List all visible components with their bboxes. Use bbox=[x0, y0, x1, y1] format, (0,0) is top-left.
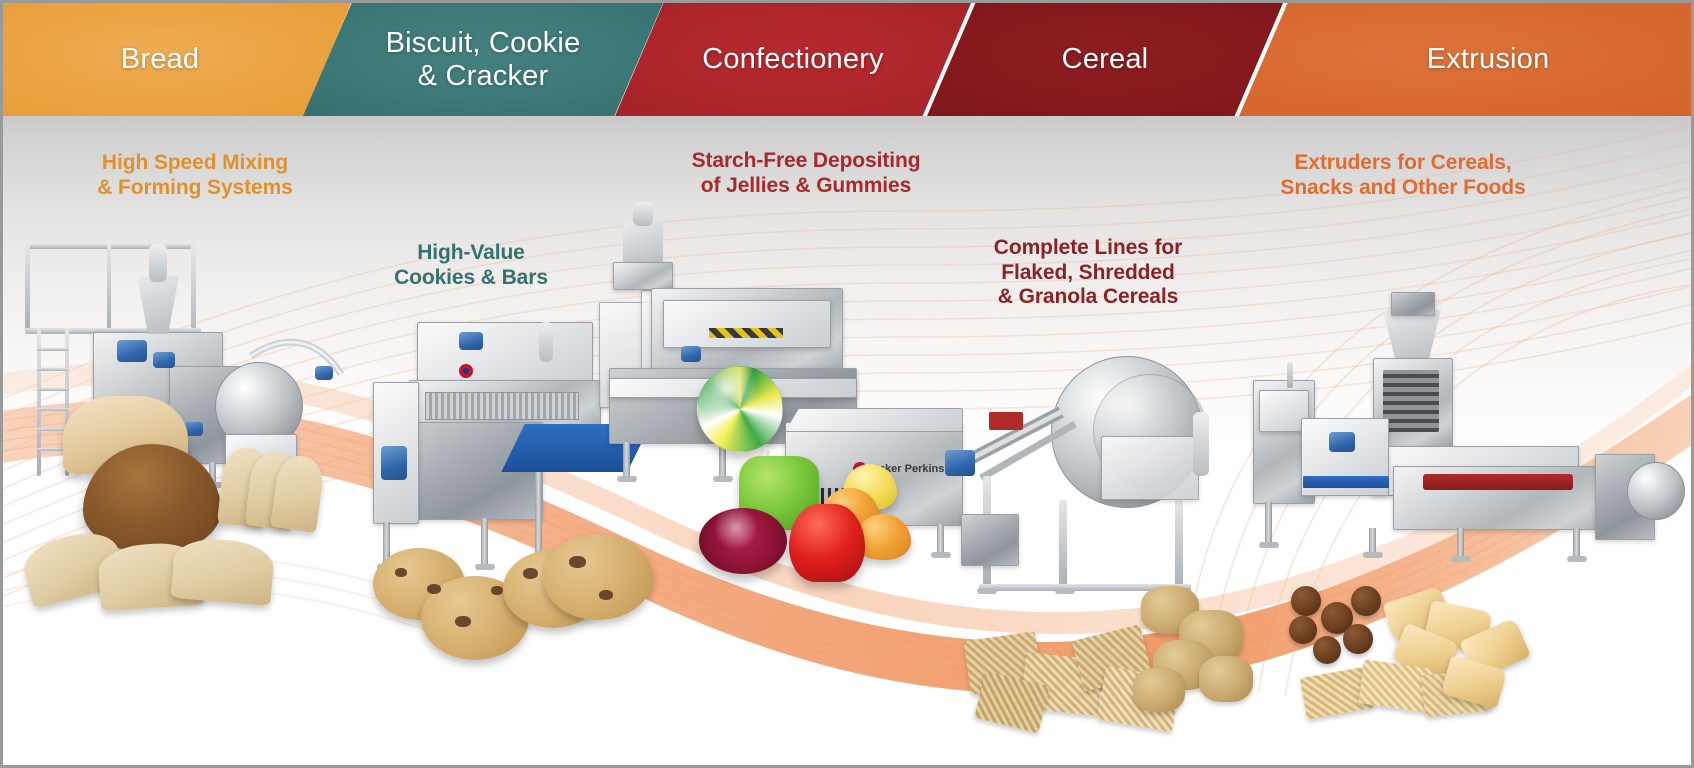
granola-cluster-5 bbox=[1133, 668, 1185, 712]
cereal-ball-4 bbox=[1351, 586, 1381, 616]
lollipop bbox=[697, 366, 783, 452]
cookie-4 bbox=[543, 534, 653, 620]
sector-tab-biscuit-cookie-cracker[interactable]: Biscuit, Cookie & Cracker bbox=[303, 3, 663, 116]
extruder-barrel-band bbox=[1423, 474, 1573, 490]
sector-tab-cereal[interactable]: Cereal bbox=[927, 3, 1283, 116]
caption-biscuit: High-Value Cookies & Bars bbox=[371, 241, 571, 290]
sector-tab-cereal-label: Cereal bbox=[1062, 43, 1149, 75]
caption-bread: High Speed Mixing & Forming Systems bbox=[50, 151, 340, 200]
baker-perkins-mark bbox=[459, 364, 473, 378]
hard-candy-purple bbox=[699, 508, 787, 574]
cereal-ball-3 bbox=[1289, 616, 1317, 644]
caption-cereal: Complete Lines for Flaked, Shredded & Gr… bbox=[963, 236, 1213, 310]
cereal-ball-1 bbox=[1291, 586, 1321, 616]
caption-confectionery: Starch-Free Depositing of Jellies & Gumm… bbox=[651, 149, 961, 198]
sector-tab-extrusion-label: Extrusion bbox=[1427, 43, 1550, 75]
sector-tab-bread[interactable]: Bread bbox=[3, 3, 351, 116]
caption-extrusion: Extruders for Cereals, Snacks and Other … bbox=[1253, 151, 1553, 200]
extrusion-machine-group bbox=[1243, 286, 1683, 596]
sector-banner: Bread Biscuit, Cookie & Cracker Confecti… bbox=[3, 3, 1694, 116]
sector-tab-confectionery[interactable]: Confectionery bbox=[615, 3, 971, 116]
cereal-machine-group bbox=[943, 316, 1243, 606]
cereal-ball-5 bbox=[1343, 624, 1373, 654]
product-sectors-banner: Bread Biscuit, Cookie & Cracker Confecti… bbox=[0, 0, 1694, 768]
granola-cluster-4 bbox=[1199, 656, 1253, 702]
sector-tab-confectionery-label: Confectionery bbox=[702, 43, 884, 75]
sector-tab-extrusion[interactable]: Extrusion bbox=[1239, 3, 1694, 116]
biscuit-machine-logo bbox=[459, 364, 473, 378]
sector-tab-bread-label: Bread bbox=[121, 43, 199, 75]
scene: Baker Perkins bbox=[3, 116, 1694, 768]
cereal-ball-6 bbox=[1313, 636, 1341, 664]
gummy-red bbox=[789, 504, 865, 582]
sector-tab-biscuit-cookie-cracker-label: Biscuit, Cookie & Cracker bbox=[386, 27, 581, 92]
